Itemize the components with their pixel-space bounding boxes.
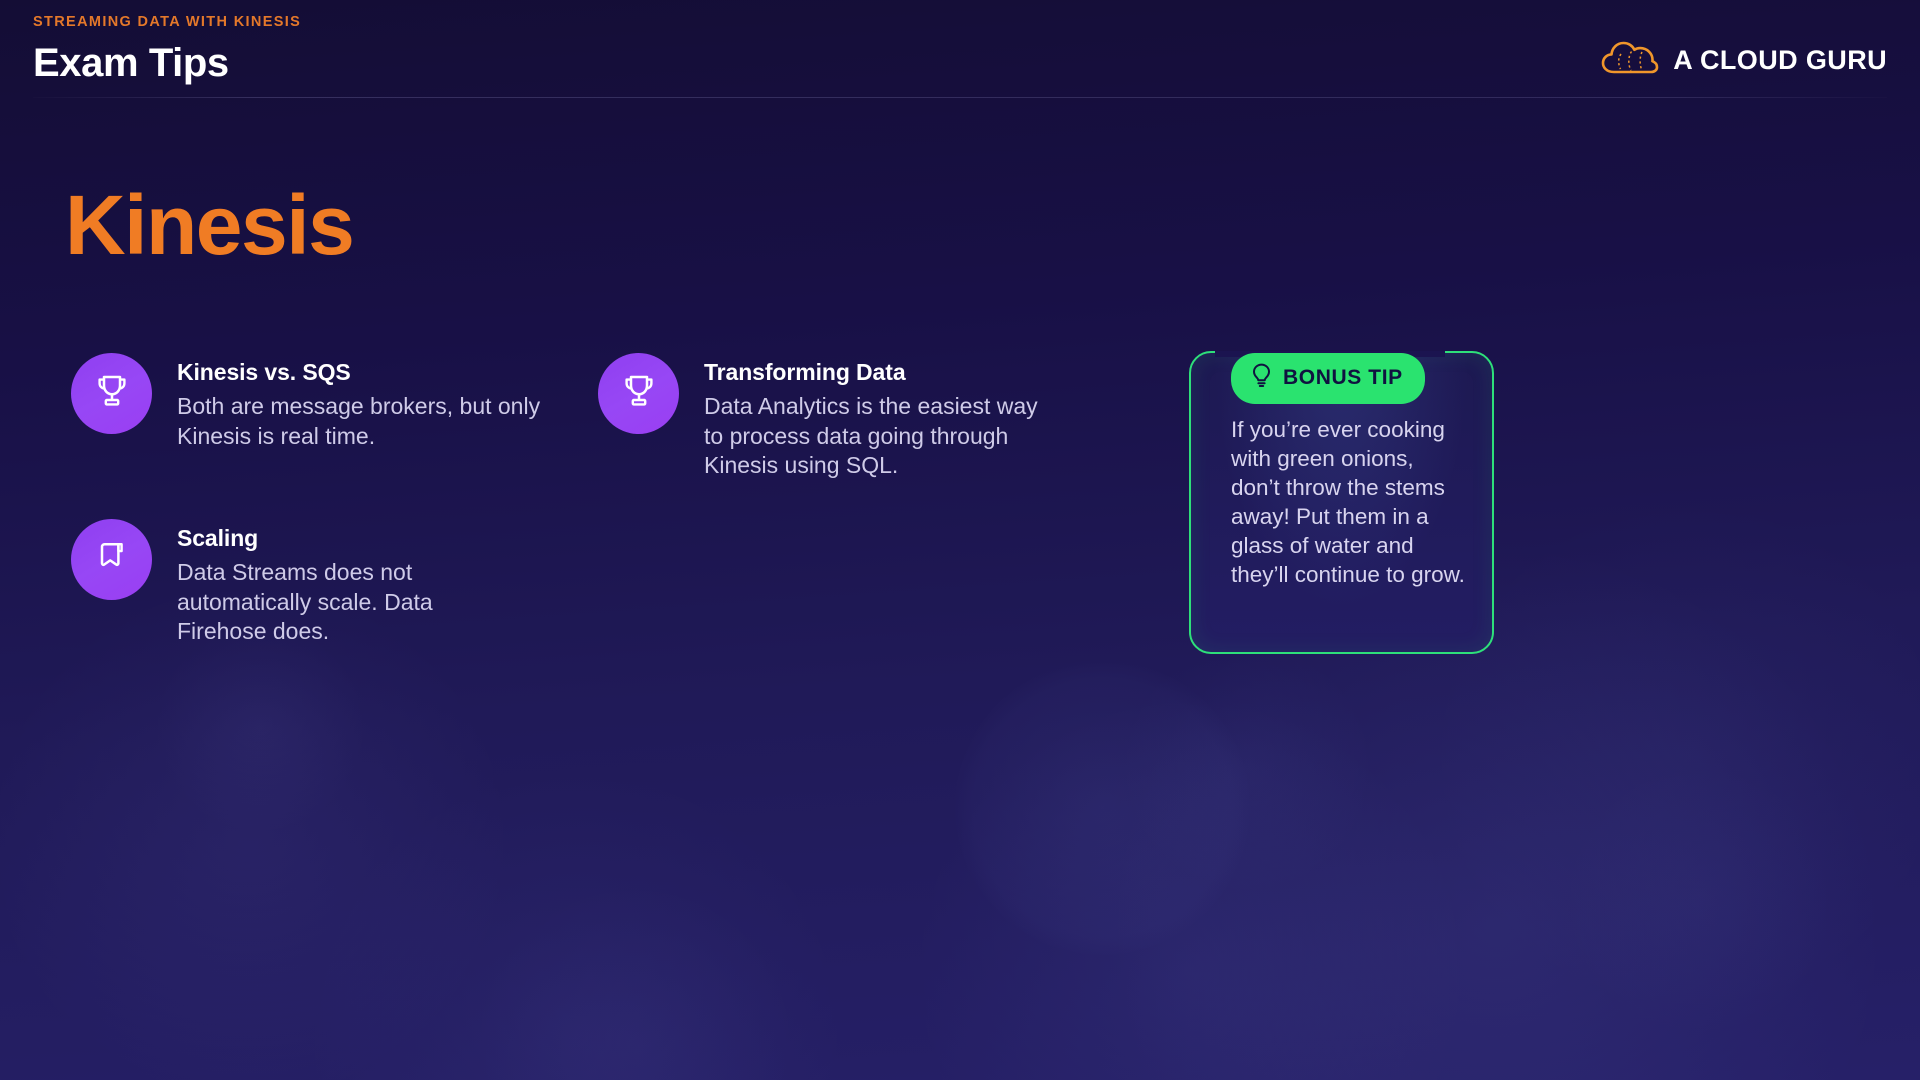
tip-text: Data Streams does not automatically scal… xyxy=(177,558,501,647)
tip-title: Kinesis vs. SQS xyxy=(177,359,541,386)
bonus-tip-text: If you’re ever cooking with green onions… xyxy=(1231,415,1466,589)
tips-container: Kinesis vs. SQS Both are message brokers… xyxy=(0,0,1920,1080)
tip-body: Kinesis vs. SQS Both are message brokers… xyxy=(177,353,541,451)
bonus-tip-section: BONUS TIP If you’re ever cooking with gr… xyxy=(1189,327,1494,654)
tip-item-transforming-data: Transforming Data Data Analytics is the … xyxy=(598,353,1058,481)
lightbulb-icon xyxy=(1251,363,1272,393)
tip-title: Transforming Data xyxy=(704,359,1058,386)
tip-icon-badge xyxy=(71,353,152,434)
slide-root: STREAMING DATA WITH KINESIS Exam Tips A … xyxy=(0,0,1920,1080)
tip-body: Scaling Data Streams does not automatica… xyxy=(177,519,501,647)
trophy-icon xyxy=(620,372,658,415)
tip-item-kinesis-vs-sqs: Kinesis vs. SQS Both are message brokers… xyxy=(71,353,541,451)
tip-icon-badge xyxy=(598,353,679,434)
bonus-badge-label: BONUS TIP xyxy=(1283,366,1403,390)
tip-body: Transforming Data Data Analytics is the … xyxy=(704,353,1058,481)
bookmark-icon xyxy=(93,538,131,581)
tip-icon-badge xyxy=(71,519,152,600)
tip-title: Scaling xyxy=(177,525,501,552)
trophy-icon xyxy=(93,372,131,415)
bonus-tip-badge: BONUS TIP xyxy=(1231,353,1425,404)
tip-text: Data Analytics is the easiest way to pro… xyxy=(704,392,1058,481)
bonus-tip-card: BONUS TIP If you’re ever cooking with gr… xyxy=(1189,351,1494,654)
tip-item-scaling: Scaling Data Streams does not automatica… xyxy=(71,519,501,647)
tip-text: Both are message brokers, but only Kines… xyxy=(177,392,541,451)
